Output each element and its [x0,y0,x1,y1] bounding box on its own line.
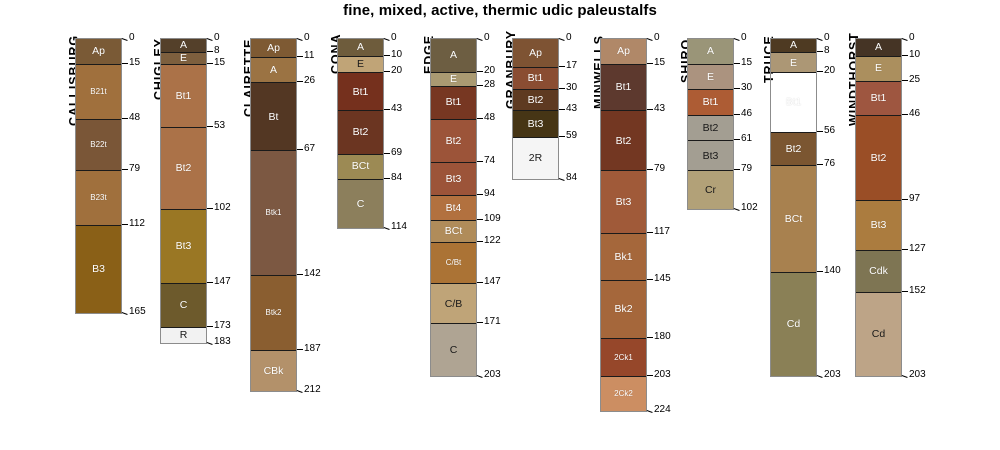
horizon-bt1: Bt1 [856,81,901,116]
axis-tick [647,63,653,64]
horizon-label: C [357,199,365,210]
axis-tick [902,249,908,250]
axis-tick [477,322,483,323]
horizon-label: A [707,46,714,57]
axis-tick [477,219,483,220]
horizon-bt2: Bt2 [338,110,383,153]
horizon-label: Btk1 [265,209,281,217]
axis-tick [817,164,823,165]
horizon-bt2: Bt2 [431,119,476,162]
axis-tick-label: 20 [391,66,402,76]
horizon-cbk: CBk [251,350,296,392]
axis-tick-label: 61 [741,134,752,144]
horizon-label: B23t [90,194,106,202]
horizon-label: BCt [445,226,463,237]
axis-tick-label: 183 [214,337,231,347]
axis-tick [647,279,653,280]
horizon-label: Bt1 [176,91,192,102]
axis-tick-label: 26 [304,76,315,86]
axis-tick-label: 109 [484,214,501,224]
horizon-label: B21t [90,88,106,96]
profile-column: ApB21tB22tB23tB3 [75,38,122,314]
axis-tick [297,38,303,41]
horizon-bt2: Bt2 [688,115,733,140]
axis-tick [477,71,483,72]
axis-tick-label: 102 [214,203,231,213]
horizon-c: C [431,323,476,376]
horizon-b23t: B23t [76,170,121,225]
axis-tick [297,56,303,57]
axis-tick-label: 102 [741,203,758,213]
horizon-label: BCt [352,161,370,172]
axis-tick [297,81,303,82]
axis-tick [647,169,653,170]
axis-tick-label: 79 [654,164,665,174]
horizon-label: Bt [269,112,279,123]
profile-column: AEBt1Bt2Bt3CR [160,38,207,344]
horizon-bt2: Bt2 [601,110,646,170]
horizon-bt3: Bt3 [601,170,646,233]
horizon-e: E [161,52,206,64]
horizon-bt3: Bt3 [688,140,733,170]
horizon-label: 2Ck1 [614,354,633,362]
axis-tick [122,118,128,119]
axis-tick-label: 76 [824,159,835,169]
axis-tick [817,51,823,52]
axis-tick-label: 59 [566,131,577,141]
axis-tick [207,208,213,209]
axis-tick [384,55,390,56]
horizon-label: Bt2 [528,95,544,106]
horizon-a: A [338,39,383,56]
horizon-label: CBk [264,366,284,377]
horizon-e: E [338,56,383,73]
horizon-label: Bt1 [446,97,462,108]
axis-tick [297,274,303,275]
horizon-label: Bt2 [616,136,632,147]
horizon-label: C/Bt [446,259,462,267]
horizon-bk1: Bk1 [601,233,646,280]
axis-tick [477,85,483,86]
horizon-label: B22t [90,141,106,149]
horizon-bt2: Bt2 [771,132,816,165]
axis-tick-label: 10 [391,50,402,60]
horizon-label: Bk2 [614,304,632,315]
horizon-b21t: B21t [76,64,121,119]
axis-tick [902,55,908,56]
horizon-e: E [688,64,733,89]
profile-column: AEBt1Bt2Bt3CdkCd [855,38,902,377]
horizon-a: A [161,39,206,52]
horizon-b22t: B22t [76,119,121,171]
horizon-cd: Cd [771,272,816,377]
axis-tick [477,282,483,283]
horizon-a: A [431,39,476,72]
horizon-bt4: Bt4 [431,195,476,220]
axis-tick [734,139,740,140]
axis-tick [207,342,213,345]
axis-tick-label: 56 [824,126,835,136]
axis-tick-label: 94 [484,189,495,199]
axis-tick-label: 30 [741,83,752,93]
axis-tick-label: 165 [129,307,146,317]
axis-tick-label: 122 [484,236,501,246]
axis-tick-label: 0 [304,33,310,43]
axis-tick-label: 84 [566,173,577,183]
horizon-e: E [771,52,816,72]
horizon-label: Cdk [869,266,888,277]
axis-tick-label: 114 [391,222,407,232]
axis-tick-label: 203 [824,370,841,380]
horizon-label: B3 [92,264,105,275]
axis-tick-label: 25 [909,75,920,85]
horizon-bt1: Bt1 [431,86,476,119]
horizon-bct: BCt [338,154,383,179]
axis-tick [297,390,303,393]
axis-tick [817,131,823,132]
horizon-a: A [771,39,816,52]
horizon-cb: C/B [431,283,476,323]
horizon-bt3: Bt3 [856,200,901,250]
axis-tick [817,38,823,41]
horizon-label: Bt2 [703,123,719,134]
axis-tick-label: 15 [654,58,665,68]
horizon-cd: Cd [856,292,901,377]
profile-column: AEBt1Bt2Bt3Bt4BCtC/BtC/BC [430,38,477,377]
axis-tick [559,136,565,137]
horizon-label: E [790,58,797,69]
axis-tick-label: 8 [214,46,220,56]
axis-tick-label: 0 [654,33,660,43]
axis-tick [207,282,213,283]
axis-tick [902,80,908,81]
axis-tick-label: 97 [909,194,920,204]
profile-column: AEBt1Bt2Bt3Cr [687,38,734,210]
axis-tick-label: 117 [654,227,670,237]
horizon-cr: Cr [688,170,733,208]
axis-tick [122,63,128,64]
horizon-label: Ap [92,46,105,57]
horizon-label: C/B [445,299,463,310]
horizon-label: E [357,59,364,70]
horizon-bt1: Bt1 [688,89,733,116]
axis-tick-label: 11 [304,51,314,61]
axis-tick-label: 147 [214,277,231,287]
horizon-bt3: Bt3 [431,162,476,195]
axis-tick-label: 0 [824,33,830,43]
axis-tick-label: 15 [129,58,140,68]
axis-tick-label: 10 [909,50,920,60]
axis-tick-label: 127 [909,244,926,254]
horizon-label: C [180,300,188,311]
axis-tick [384,38,390,41]
axis-tick-label: 43 [391,104,402,114]
horizon-label: Bt4 [446,203,462,214]
horizon-ap: Ap [513,39,558,67]
horizon-label: BCt [785,214,803,225]
horizon-ap: Ap [251,39,296,57]
horizon-label: Bt1 [528,73,544,84]
axis-tick-label: 53 [214,121,225,131]
axis-tick [477,38,483,41]
horizon-ap: Ap [76,39,121,64]
horizon-label: Bt2 [176,163,192,174]
horizon-label: A [180,40,187,51]
horizon-bt3: Bt3 [513,110,558,137]
horizon-label: 2Ck2 [614,390,633,398]
horizon-2ck1: 2Ck1 [601,338,646,376]
axis-tick-label: 152 [909,286,926,296]
axis-tick [817,375,823,378]
horizon-label: A [270,65,277,76]
axis-tick [207,63,213,64]
horizon-bct: BCt [771,165,816,271]
axis-tick-label: 43 [654,104,665,114]
horizon-label: Cd [787,319,800,330]
horizon-label: Bt1 [786,97,802,108]
axis-tick [734,169,740,170]
axis-tick-label: 0 [741,33,747,43]
axis-tick [384,227,390,230]
axis-tick [647,109,653,110]
axis-tick-label: 15 [214,58,225,68]
horizon-r: R [161,327,206,344]
horizon-label: A [450,50,457,61]
axis-tick [384,178,390,179]
axis-tick [122,169,128,170]
horizon-e: E [856,56,901,81]
horizon-2r: 2R [513,137,558,179]
horizon-label: Bt3 [446,174,462,185]
axis-tick-label: 84 [391,173,402,183]
axis-tick-label: 20 [484,66,495,76]
axis-tick-label: 173 [214,321,231,331]
horizon-label: Bt1 [703,97,719,108]
axis-tick [647,410,653,413]
horizon-label: E [707,72,714,83]
axis-tick [559,109,565,110]
axis-tick [477,375,483,378]
horizon-label: Bt1 [353,87,369,98]
axis-tick [122,38,128,41]
axis-tick-label: 20 [824,66,835,76]
axis-tick [734,63,740,64]
axis-tick [559,66,565,67]
axis-tick [902,38,908,41]
axis-tick-label: 0 [214,33,220,43]
horizon-ap: Ap [601,39,646,64]
axis-tick [817,71,823,72]
horizon-label: Ap [529,48,542,59]
horizon-label: Bt3 [616,197,632,208]
profile-column: AEBt1Bt2BCtC [337,38,384,229]
axis-tick-label: 142 [304,269,321,279]
axis-tick-label: 145 [654,274,671,284]
axis-tick [384,109,390,110]
axis-tick-label: 43 [566,104,577,114]
horizon-label: Bt1 [871,93,887,104]
axis-tick-label: 17 [566,61,577,71]
profile-column: ApBt1Bt2Bt3Bk1Bk22Ck12Ck2 [600,38,647,412]
axis-tick-label: 0 [484,33,490,43]
soil-profile-chart: fine, mixed, active, thermic udic paleus… [0,0,1000,450]
horizon-a: A [251,57,296,82]
axis-tick-label: 212 [304,385,321,395]
horizon-label: A [875,42,882,53]
axis-tick [817,271,823,272]
axis-tick-label: 69 [391,148,402,158]
axis-tick-label: 171 [484,317,501,327]
axis-tick [902,375,908,378]
horizon-bt1: Bt1 [601,64,646,111]
axis-tick [734,208,740,211]
axis-tick-label: 224 [654,405,671,415]
axis-tick [647,38,653,41]
axis-tick-label: 140 [824,266,841,276]
horizon-a: A [856,39,901,56]
horizon-label: Bt2 [871,153,887,164]
horizon-bt1: Bt1 [771,72,816,132]
horizon-label: Bt2 [446,136,462,147]
axis-tick-label: 8 [824,46,830,56]
horizon-label: Bt3 [703,151,719,162]
horizon-bt1: Bt1 [338,72,383,110]
horizon-label: Bt3 [176,241,192,252]
profile-column: ApBt1Bt2Bt32R [512,38,559,180]
axis-tick-label: 46 [909,109,920,119]
axis-tick [902,291,908,292]
axis-tick-label: 46 [741,109,752,119]
horizon-label: Bk1 [614,252,632,263]
horizon-bt3: Bt3 [161,209,206,284]
axis-tick [477,194,483,195]
axis-tick-label: 67 [304,144,315,154]
horizon-label: 2R [529,153,542,164]
axis-tick-label: 0 [909,33,915,43]
axis-tick-label: 203 [654,370,671,380]
axis-tick-label: 180 [654,332,671,342]
horizon-label: A [357,42,364,53]
horizon-label: Ap [267,43,280,54]
axis-tick [734,114,740,115]
axis-tick [384,153,390,154]
horizon-label: Bt2 [353,127,369,138]
axis-tick [647,232,653,233]
horizon-cdk: Cdk [856,250,901,292]
axis-tick-label: 0 [566,33,572,43]
axis-tick [647,337,653,338]
horizon-label: E [450,74,457,85]
axis-tick [902,114,908,115]
axis-tick [559,38,565,41]
horizon-bt: Bt [251,82,296,150]
axis-tick-label: 79 [129,164,140,174]
axis-tick-label: 187 [304,344,321,354]
horizon-label: E [180,53,187,64]
axis-tick-label: 48 [484,113,495,123]
axis-tick [477,241,483,242]
axis-tick [559,178,565,181]
horizon-bt2: Bt2 [856,115,901,200]
axis-tick [122,224,128,225]
axis-tick-label: 147 [484,277,501,287]
axis-tick [734,38,740,41]
horizon-bk2: Bk2 [601,280,646,338]
page-title: fine, mixed, active, thermic udic paleus… [0,2,1000,19]
horizon-label: C [450,345,458,356]
axis-tick [207,326,213,327]
horizon-c: C [338,179,383,229]
horizon-b3: B3 [76,225,121,313]
horizon-label: R [180,330,188,341]
axis-tick [207,51,213,52]
horizon-label: Cd [872,329,885,340]
axis-tick-label: 28 [484,80,495,90]
axis-tick [122,312,128,315]
axis-tick-label: 203 [484,370,501,380]
axis-tick-label: 0 [129,33,135,43]
axis-tick-label: 0 [391,33,397,43]
axis-tick [477,118,483,119]
horizon-label: Bt2 [786,144,802,155]
horizon-label: E [875,63,882,74]
axis-tick-label: 203 [909,370,926,380]
axis-tick-label: 15 [741,58,752,68]
horizon-bt1: Bt1 [513,67,558,89]
horizon-btk1: Btk1 [251,150,296,275]
horizon-label: A [790,40,797,51]
horizon-label: Ap [617,46,630,57]
axis-tick [477,161,483,162]
axis-tick [559,88,565,89]
horizon-c: C [161,283,206,326]
horizon-cbt: C/Bt [431,242,476,284]
axis-tick-label: 30 [566,83,577,93]
horizon-bt2: Bt2 [161,127,206,208]
horizon-bt1: Bt1 [161,64,206,127]
axis-tick-label: 74 [484,156,495,166]
axis-tick [207,126,213,127]
horizon-bt2: Bt2 [513,89,558,111]
axis-tick [207,38,213,41]
horizon-btk2: Btk2 [251,275,296,350]
axis-tick-label: 79 [741,164,752,174]
axis-tick [297,349,303,350]
horizon-a: A [688,39,733,64]
axis-tick [647,375,653,376]
axis-tick [734,88,740,89]
horizon-2ck2: 2Ck2 [601,376,646,411]
profile-column: ApABtBtk1Btk2CBk [250,38,297,392]
horizon-label: Bt3 [871,220,887,231]
horizon-label: Btk2 [265,309,281,317]
axis-tick [297,149,303,150]
axis-tick-label: 48 [129,113,140,123]
axis-tick [384,71,390,72]
axis-tick [902,199,908,200]
horizon-label: Bt1 [616,82,632,93]
horizon-e: E [431,72,476,85]
horizon-bct: BCt [431,220,476,242]
profile-column: AEBt1Bt2BCtCd [770,38,817,377]
horizon-label: Cr [705,185,716,196]
horizon-label: Bt3 [528,119,544,130]
axis-tick-label: 112 [129,219,145,229]
